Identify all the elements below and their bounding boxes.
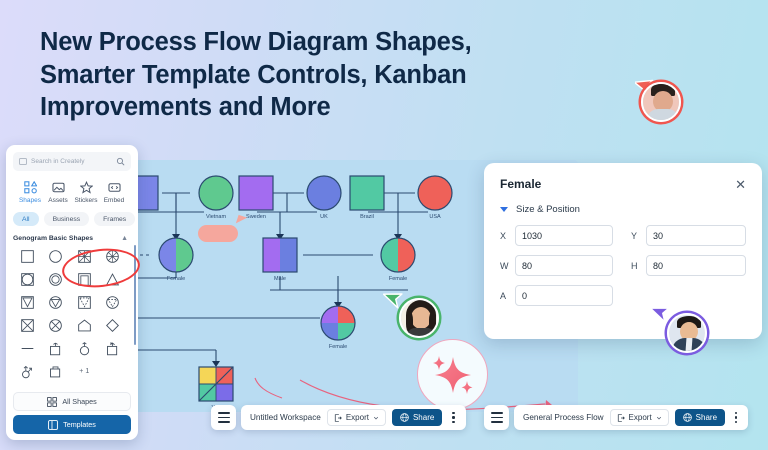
field-x: X 1030 [500,225,623,246]
field-x-label: X [500,231,508,241]
image-icon [44,180,72,195]
tab-assets-label: Assets [44,197,72,204]
properties-panel[interactable]: Female ✕ Size & Position X 1030 Y 30 W 8… [484,163,762,339]
field-y: Y 30 [623,225,746,246]
input-h[interactable]: 80 [646,255,746,276]
export-label-left: Export [346,413,369,422]
svg-text:Female: Female [389,276,407,282]
tab-stickers-label: Stickers [72,197,100,204]
row-x-y: X 1030 Y 30 [500,225,746,246]
input-y[interactable]: 30 [646,225,746,246]
page-title-line-2: Smarter Template Controls, Kanban [40,59,580,92]
row-a: A 0 [500,285,746,306]
shape-circle-x[interactable] [42,315,71,335]
row-w-h: W 80 H 80 [500,255,746,276]
kebab-menu-icon-left[interactable] [448,412,458,423]
shape-circle-spoke[interactable] [99,246,128,266]
tab-shapes[interactable]: Shapes [16,180,44,204]
svg-text:Sweden: Sweden [246,214,266,220]
avatar-purple [667,313,707,353]
star-icon [72,180,100,195]
kebab-menu-icon-right[interactable] [731,412,741,423]
shape-square-x-star[interactable] [70,246,99,266]
shape-triangle[interactable] [99,269,128,289]
shape-pentagon-home[interactable] [70,315,99,335]
svg-text:Male: Male [274,276,286,282]
input-a[interactable]: 0 [515,285,613,306]
workspace-name-left[interactable]: Untitled Workspace [250,413,321,422]
globe-icon [400,413,409,422]
shape-square-in-square[interactable] [70,269,99,289]
shapes-grid-icon [16,180,44,195]
avatar [641,82,681,122]
svg-text:UK: UK [320,214,328,220]
field-w: W 80 [500,255,623,276]
globe-icon-right [683,413,692,422]
page-title-line-3: Improvements and More [40,91,580,124]
field-a: A 0 [500,285,623,306]
shape-circle-triangle-down[interactable] [42,292,71,312]
grid-icon [47,397,57,407]
panel-scrollbar[interactable] [134,245,137,345]
shape-gender-female-circle[interactable] [70,338,99,358]
properties-title: Female [500,177,541,191]
field-y-label: Y [631,231,639,241]
collab-cursor-red [641,82,681,122]
collab-cursor-purple [667,313,707,353]
shape-circle-dashed-triangle[interactable] [99,292,128,312]
shape-square-circle[interactable] [13,269,42,289]
shape-square[interactable] [13,246,42,266]
filter-pill-business[interactable]: Business [44,212,90,226]
filter-pill-frames[interactable]: Frames [94,212,135,226]
export-icon-right [617,414,625,422]
workspace-name-right[interactable]: General Process Flow [523,413,604,422]
shape-grid-spacer [99,361,128,381]
export-button-left[interactable]: Export [327,409,386,426]
search-prefix-icon [19,158,27,165]
page-title: New Process Flow Diagram Shapes, Smarter… [40,26,580,124]
hamburger-icon[interactable] [211,405,236,430]
shape-gender-trans-box[interactable] [99,338,128,358]
toolbar-right-main: General Process Flow Export Share [514,405,748,430]
toolbar-right[interactable]: General Process Flow Export Share [484,405,748,430]
shape-square-triangle-down[interactable] [13,292,42,312]
template-icon [48,420,58,430]
tab-stickers[interactable]: Stickers [72,180,100,204]
input-x[interactable]: 1030 [515,225,613,246]
close-icon[interactable]: ✕ [735,178,746,191]
chevron-up-icon[interactable]: ▲ [121,235,128,242]
hamburger-icon-right[interactable] [484,405,509,430]
templates-label: Templates [63,420,96,429]
properties-header: Female ✕ [500,177,746,191]
tab-embed[interactable]: Embed [100,180,128,204]
field-h-label: H [631,261,639,271]
chevron-down-icon [373,415,379,421]
page-title-line-1: New Process Flow Diagram Shapes, [40,26,580,59]
caret-down-icon [500,207,508,212]
svg-text:Brazil: Brazil [360,214,374,220]
shape-diamond[interactable] [99,315,128,335]
section-header-genogram[interactable]: Genogram Basic Shapes ▲ [13,235,131,242]
embed-code-icon [100,180,128,195]
shape-pet-box[interactable] [42,361,71,381]
field-w-label: W [500,261,508,271]
tab-assets[interactable]: Assets [44,180,72,204]
toolbar-left-main: Untitled Workspace Export Share [241,405,466,430]
shape-circle[interactable] [42,246,71,266]
pink-annotation-blob [198,225,238,242]
filter-pill-list: All Business Frames [13,212,131,226]
filter-pill-all[interactable]: All [13,212,39,226]
shape-more-count[interactable]: + 1 [70,361,99,381]
panel-tab-list: Shapes Assets Stickers [13,180,131,204]
svg-text:Female: Female [329,344,347,350]
export-button-right[interactable]: Export [610,409,669,426]
avatar-green [399,298,439,338]
size-position-label: Size & Position [516,204,580,215]
shape-square-x[interactable] [13,315,42,335]
shape-square-dashed-triangle[interactable] [70,292,99,312]
field-a-label: A [500,291,508,301]
shape-grid: + 1 [13,246,131,381]
tab-shapes-label: Shapes [16,197,44,204]
share-button-left[interactable]: Share [392,409,442,426]
toolbar-left[interactable]: Untitled Workspace Export Share [211,405,466,430]
collab-cursor-green [399,298,439,338]
shape-circle-in-circle[interactable] [42,269,71,289]
all-shapes-button[interactable]: All Shapes [13,392,131,411]
templates-button[interactable]: Templates [13,415,131,434]
ai-sparkle-bubble[interactable] [417,339,488,410]
export-label-right: Export [629,413,652,422]
section-title: Genogram Basic Shapes [13,235,93,242]
share-button-right[interactable]: Share [675,409,725,426]
svg-text:Vietnam: Vietnam [206,214,226,220]
input-w[interactable]: 80 [515,255,613,276]
shape-gender-symbol[interactable] [13,361,42,381]
all-shapes-label: All Shapes [62,397,96,406]
chevron-down-icon-right [656,415,662,421]
share-label-left: Share [413,413,434,422]
field-h: H 80 [623,255,746,276]
search-input[interactable]: Search in Creately [13,152,131,171]
search-icon[interactable] [116,157,125,166]
svg-text:Female: Female [167,276,185,282]
svg-text:USA: USA [429,214,441,220]
size-position-section-toggle[interactable]: Size & Position [500,204,746,215]
search-placeholder: Search in Creately [31,158,112,165]
shape-gender-male-box[interactable] [42,338,71,358]
panel-footer: All Shapes Templates [13,392,131,434]
properties-fields: X 1030 Y 30 W 80 H 80 A 0 [500,225,746,306]
shape-line[interactable] [13,338,42,358]
tab-embed-label: Embed [100,197,128,204]
shapes-panel[interactable]: Search in Creately Shapes [6,145,138,440]
share-label-right: Share [696,413,717,422]
export-icon [334,414,342,422]
ai-sparkle-icon [427,349,479,401]
